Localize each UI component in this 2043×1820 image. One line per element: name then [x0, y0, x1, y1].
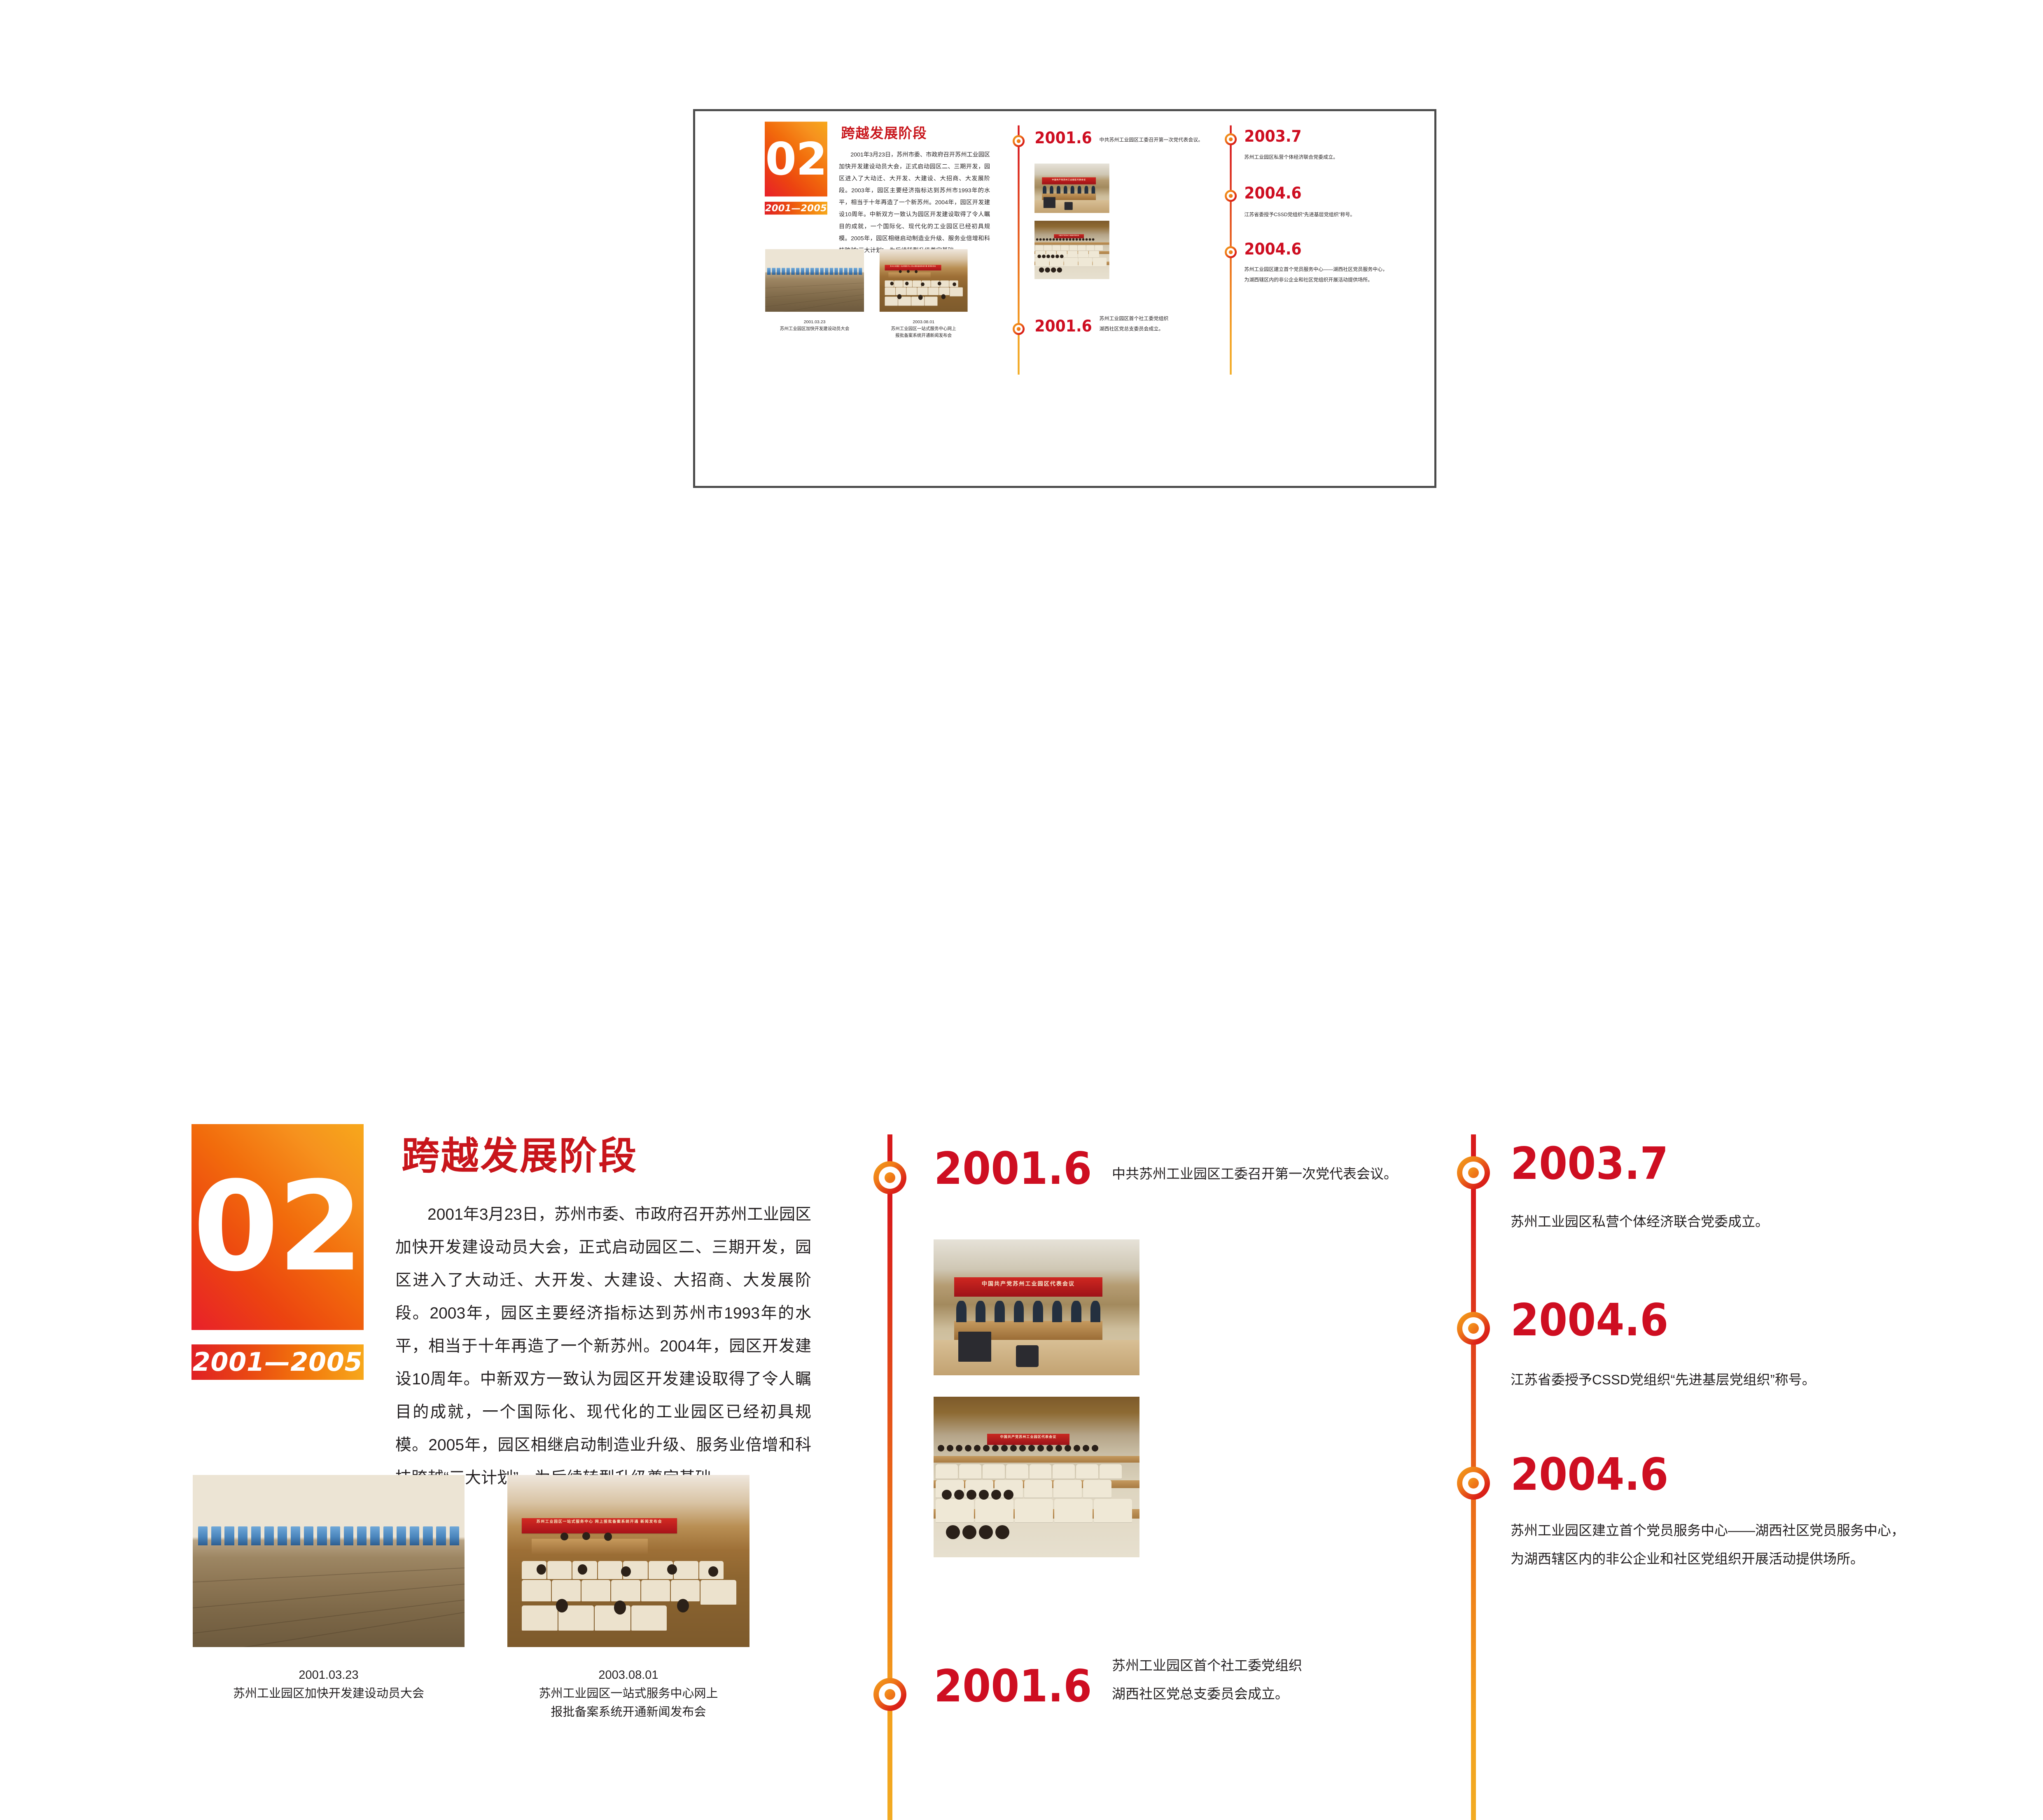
timeline-note-right-3: 苏州工业园区建立首个党员服务中心——湖西社区党员服务中心， 为湖西辖区内的非公企… [1244, 264, 1431, 285]
timeline-marker-right-3[interactable] [1457, 1467, 1490, 1500]
section-year-range-text: 2001—2005 [765, 203, 827, 213]
congress-banner-stage: 中国共产党苏州工业园区代表会议 [954, 1277, 1102, 1296]
page-title: 跨越发展阶段 [402, 1137, 638, 1175]
photo-field-machines [193, 1475, 465, 1647]
timeline-note-center-1: 中共苏州工业园区工委召开第一次党代表会议。 [1099, 135, 1213, 145]
section-number-text: 02 [193, 1165, 362, 1289]
timeline-note-line-1: 苏州工业园区首个社工委党组织 [1099, 313, 1213, 324]
press-conference-banner-text: 苏州工业园区一站式服务中心 网上报批备案系统开通 新闻发布会 [522, 1518, 677, 1524]
photo-party-congress-audience: 中国共产党苏州工业园区代表会议 [934, 1397, 1139, 1557]
timeline-note-right-2: 江苏省委授予CSSD党组织“先进基层党组织”称号。 [1511, 1366, 2021, 1393]
slide-preview-content: 02 2001—2005 跨越发展阶段 2001年3月23日，苏州市委、市政府召… [695, 111, 1436, 488]
photo-press-conference: 苏州工业园区一站式服务中心 网上报批备案系统开通 新闻发布会 [880, 249, 968, 312]
page-title: 跨越发展阶段 [841, 126, 927, 140]
slide-canvas: 02 2001—2005 跨越发展阶段 2001年3月23日，苏州市委、市政府召… [0, 548, 2043, 1441]
caption-date: 2001.03.23 [765, 319, 864, 325]
photo-party-congress-stage: 中国共产党苏州工业园区代表会议 [1034, 163, 1109, 213]
caption-photo-press-conference: 2003.08.01 苏州工业园区一站式服务中心网上 报批备案系统开通新闻发布会 [499, 1666, 758, 1722]
congress-banner-stage-text: 中国共产党苏州工业园区代表会议 [954, 1277, 1102, 1288]
section-year-range-badge: 2001—2005 [765, 202, 827, 215]
timeline-year-center-2: 2001.6 [934, 1664, 1092, 1709]
timeline-rail-center [887, 1134, 892, 1820]
photo-press-conference: 苏州工业园区一站式服务中心 网上报批备案系统开通 新闻发布会 [507, 1475, 749, 1647]
timeline-note-line-1: 江苏省委授予CSSD党组织“先进基层党组织”称号。 [1511, 1366, 2021, 1393]
congress-banner-audience: 中国共产党苏州工业园区代表会议 [987, 1434, 1069, 1445]
section-year-range-badge: 2001—2005 [191, 1344, 364, 1380]
timeline-marker-center-1[interactable] [1013, 135, 1025, 147]
congress-banner-audience: 中国共产党苏州工业园区代表会议 [1054, 234, 1084, 238]
timeline-note-line-2: 为湖西辖区内的非公企业和社区党组织开展活动提供场所。 [1511, 1545, 2025, 1573]
timeline-note-line-2: 湖西社区党总支委员会成立。 [1099, 324, 1213, 334]
timeline-marker-center-2[interactable] [873, 1678, 906, 1711]
caption-date: 2003.08.01 [499, 1666, 758, 1685]
caption-date: 2003.08.01 [877, 319, 971, 325]
timeline-marker-right-2[interactable] [1457, 1312, 1490, 1345]
caption-photo-press-conference: 2003.08.01 苏州工业园区一站式服务中心网上 报批备案系统开通新闻发布会 [877, 319, 971, 339]
section-number-badge: 02 [191, 1124, 364, 1330]
caption-line-2: 报批备案系统开通新闻发布会 [499, 1703, 758, 1722]
timeline-note-right-2: 江苏省委授予CSSD党组织“先进基层党组织”称号。 [1244, 210, 1430, 219]
timeline-note-line-1: 苏州工业园区私营个体经济联合党委成立。 [1511, 1208, 2005, 1235]
audience-heads [938, 1445, 1135, 1464]
timeline-note-line-1: 苏州工业园区首个社工委党组织 [1112, 1651, 1425, 1680]
caption-line-1: 苏州工业园区一站式服务中心网上 [877, 325, 971, 332]
excavator-row [198, 1526, 459, 1545]
caption-text: 苏州工业园区加快开发建设动员大会 [193, 1685, 465, 1703]
timeline-note-line-1: 苏州工业园区私营个体经济联合党委成立。 [1244, 152, 1424, 162]
timeline-rail-center [1018, 126, 1019, 375]
timeline-note-right-1: 苏州工业园区私营个体经济联合党委成立。 [1244, 152, 1424, 162]
timeline-marker-right-1[interactable] [1225, 133, 1237, 145]
caption-photo-field: 2001.03.23 苏州工业园区加快开发建设动员大会 [765, 319, 864, 332]
section-body-text: 2001年3月23日，苏州市委、市政府召开苏州工业园区加快开发建设动员大会，正式… [395, 1198, 811, 1494]
congress-banner-stage: 中国共产党苏州工业园区代表会议 [1042, 177, 1096, 184]
timeline-note-line-2: 为湖西辖区内的非公企业和社区党组织开展活动提供场所。 [1244, 275, 1431, 285]
caption-date: 2001.03.23 [193, 1666, 465, 1685]
press-conference-banner: 苏州工业园区一站式服务中心 网上报批备案系统开通 新闻发布会 [885, 265, 941, 271]
timeline-note-line-1: 苏州工业园区建立首个党员服务中心——湖西社区党员服务中心， [1244, 264, 1431, 274]
timeline-marker-center-2[interactable] [1013, 323, 1025, 335]
slide-preview-frame[interactable]: 02 2001—2005 跨越发展阶段 2001年3月23日，苏州市委、市政府召… [693, 109, 1436, 488]
caption-line-2: 报批备案系统开通新闻发布会 [877, 332, 971, 338]
caption-photo-field: 2001.03.23 苏州工业园区加快开发建设动员大会 [193, 1666, 465, 1703]
audience-heads [1036, 238, 1108, 245]
congress-banner-stage-text: 中国共产党苏州工业园区代表会议 [1042, 177, 1096, 182]
photo-field-machines [765, 249, 864, 312]
timeline-note-center-1: 中共苏州工业园区工委召开第一次党代表会议。 [1112, 1161, 1425, 1187]
caption-line-1: 苏州工业园区一站式服务中心网上 [499, 1685, 758, 1703]
timeline-year-right-3: 2004.6 [1244, 241, 1301, 257]
press-conference-banner-text: 苏州工业园区一站式服务中心 网上报批备案系统开通 新闻发布会 [885, 265, 941, 267]
timeline-marker-right-1[interactable] [1457, 1156, 1490, 1189]
timeline-note-line-1: 江苏省委授予CSSD党组织“先进基层党组织”称号。 [1244, 210, 1430, 219]
section-year-range-text: 2001—2005 [193, 1349, 363, 1375]
slide-preview-copy: 02 2001—2005 跨越发展阶段 2001年3月23日，苏州市委、市政府召… [695, 109, 1436, 237]
timeline-note-center-2: 苏州工业园区首个社工委党组织 湖西社区党总支委员会成立。 [1112, 1651, 1425, 1708]
press-conference-banner: 苏州工业园区一站式服务中心 网上报批备案系统开通 新闻发布会 [522, 1518, 677, 1534]
timeline-year-right-3: 2004.6 [1511, 1453, 1668, 1497]
timeline-marker-right-2[interactable] [1225, 190, 1237, 202]
timeline-year-center-1: 2001.6 [934, 1147, 1092, 1191]
section-number-text: 02 [765, 137, 827, 182]
congress-banner-audience-text: 中国共产党苏州工业园区代表会议 [987, 1434, 1069, 1440]
caption-text: 苏州工业园区加快开发建设动员大会 [765, 325, 864, 332]
congress-banner-audience-text: 中国共产党苏州工业园区代表会议 [1054, 234, 1084, 237]
timeline-note-right-3: 苏州工业园区建立首个党员服务中心——湖西社区党员服务中心， 为湖西辖区内的非公企… [1511, 1516, 2025, 1573]
excavator-row [767, 268, 862, 275]
timeline-year-right-2: 2004.6 [1511, 1298, 1668, 1343]
timeline-year-center-1: 2001.6 [1034, 130, 1092, 146]
timeline-marker-right-3[interactable] [1225, 246, 1237, 258]
photo-party-congress-audience: 中国共产党苏州工业园区代表会议 [1034, 221, 1109, 279]
timeline-note-line-2: 湖西社区党总支委员会成立。 [1112, 1680, 1425, 1708]
timeline-year-center-2: 2001.6 [1034, 318, 1092, 334]
timeline-marker-center-1[interactable] [873, 1161, 906, 1194]
section-body-text: 2001年3月23日，苏州市委、市政府召开苏州工业园区加快开发建设动员大会，正式… [839, 149, 990, 257]
photo-party-congress-stage: 中国共产党苏州工业园区代表会议 [934, 1239, 1139, 1375]
timeline-year-right-1: 2003.7 [1511, 1142, 1668, 1186]
timeline-year-right-2: 2004.6 [1244, 185, 1301, 201]
section-number-badge: 02 [765, 121, 827, 196]
timeline-note-center-2: 苏州工业园区首个社工委党组织 湖西社区党总支委员会成立。 [1099, 313, 1213, 334]
timeline-note-line-1: 苏州工业园区建立首个党员服务中心——湖西社区党员服务中心， [1511, 1516, 2025, 1545]
timeline-note-right-1: 苏州工业园区私营个体经济联合党委成立。 [1511, 1208, 2005, 1235]
timeline-year-right-1: 2003.7 [1244, 128, 1301, 144]
